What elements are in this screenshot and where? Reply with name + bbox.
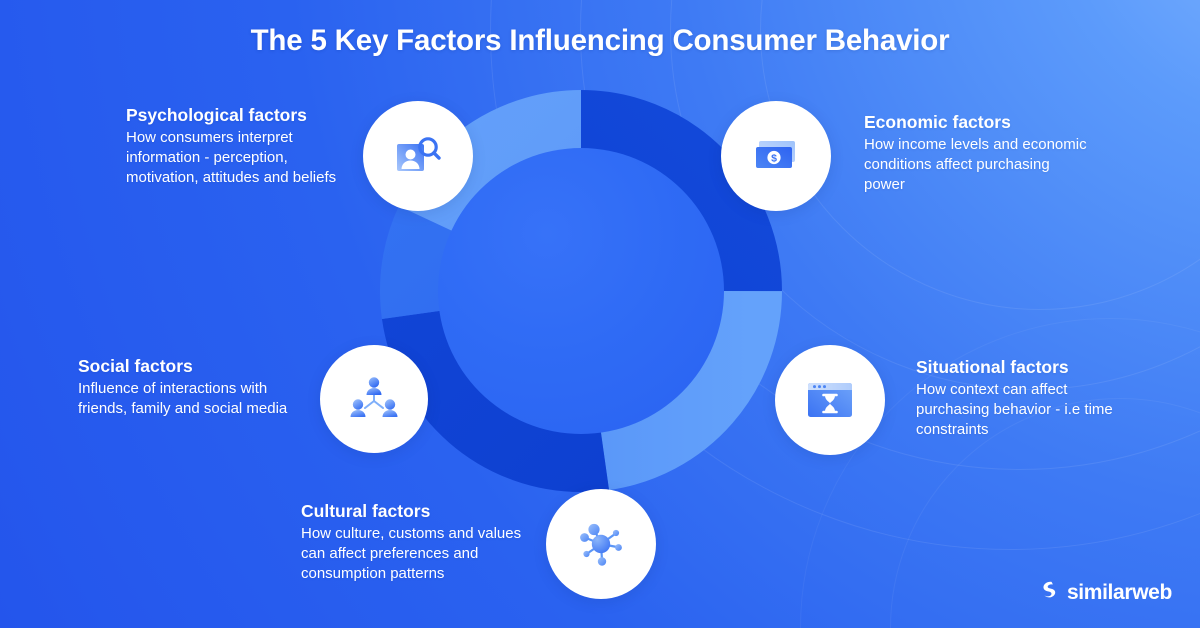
factor-title: Economic factors (864, 111, 1092, 133)
icon-bubble-psychological (363, 101, 473, 211)
factor-psychological: Psychological factors How consumers inte… (126, 104, 351, 188)
page-title: The 5 Key Factors Influencing Consumer B… (0, 24, 1200, 58)
factor-social: Social factors Influence of interactions… (78, 355, 313, 419)
browser-hourglass-icon (804, 377, 856, 423)
svg-text:$: $ (771, 152, 777, 164)
factor-economic: Economic factors How income levels and e… (864, 111, 1092, 195)
factor-description: Influence of interactions with friends, … (78, 379, 313, 419)
factor-title: Psychological factors (126, 104, 351, 126)
icon-bubble-social (320, 345, 428, 453)
factor-title: Social factors (78, 355, 313, 377)
factor-description: How income levels and economic condition… (864, 135, 1092, 194)
brand-name: similarweb (1067, 581, 1172, 605)
factor-description: How context can affect purchasing behavi… (916, 380, 1141, 439)
people-network-icon (348, 375, 400, 423)
factor-title: Situational factors (916, 356, 1141, 378)
banknote-dollar-icon: $ (751, 131, 801, 181)
infographic-canvas: The 5 Key Factors Influencing Consumer B… (0, 0, 1200, 628)
factor-description: How consumers interpret information - pe… (126, 128, 351, 187)
factor-title: Cultural factors (301, 500, 539, 522)
donut-center (438, 148, 724, 434)
molecule-nodes-icon (575, 518, 627, 570)
factor-cultural: Cultural factors How culture, customs an… (301, 500, 539, 584)
similarweb-swirl-icon (1038, 579, 1060, 606)
icon-bubble-situational (775, 345, 885, 455)
icon-bubble-cultural (546, 489, 656, 599)
icon-bubble-economic: $ (721, 101, 831, 211)
similarweb-logo: similarweb (1038, 579, 1172, 606)
person-search-icon (392, 130, 444, 182)
factor-description: How culture, customs and values can affe… (301, 524, 539, 583)
factor-situational: Situational factors How context can affe… (916, 356, 1141, 440)
